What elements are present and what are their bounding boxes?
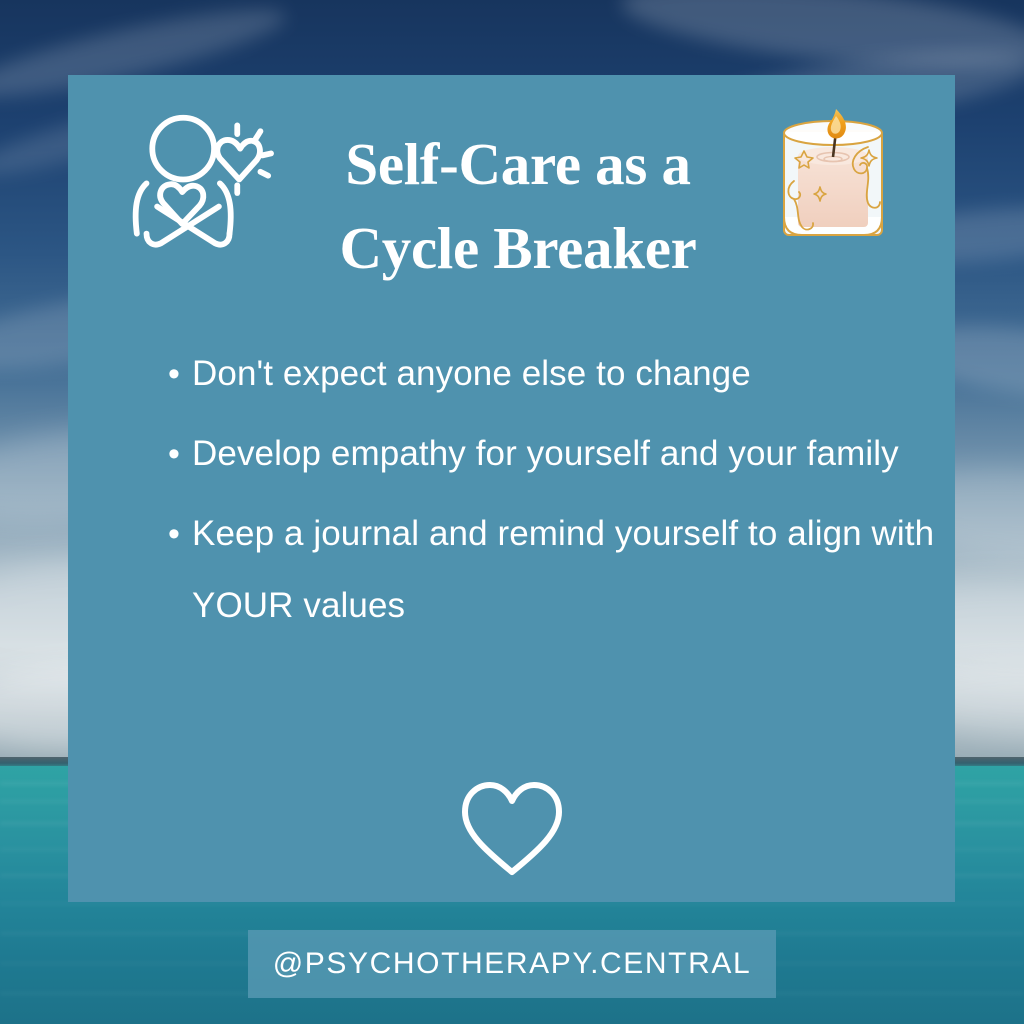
- water-glint: [0, 902, 1024, 905]
- title-line-2: Cycle Breaker: [283, 206, 753, 290]
- content-card: Self-Care as a Cycle Breaker: [68, 75, 955, 902]
- title-line-1: Self-Care as a: [283, 122, 753, 206]
- list-item-text: Develop empathy for yourself and your fa…: [192, 418, 952, 490]
- list-item: • Keep a journal and remind yourself to …: [162, 498, 952, 642]
- bullet-marker-icon: •: [162, 498, 192, 570]
- bullet-marker-icon: •: [162, 418, 192, 490]
- list-item: • Develop empathy for yourself and your …: [162, 418, 952, 490]
- bullet-marker-icon: •: [162, 338, 192, 410]
- handle-text: @PSYCHOTHERAPY.CENTRAL: [273, 947, 752, 981]
- cloud-wisp: [618, 0, 1024, 82]
- bullet-list: • Don't expect anyone else to change • D…: [162, 338, 952, 650]
- self-love-icon: [130, 110, 275, 250]
- handle-bar: @PSYCHOTHERAPY.CENTRAL: [248, 930, 776, 998]
- candle-icon: [768, 107, 898, 247]
- poster: Self-Care as a Cycle Breaker: [0, 0, 1024, 1024]
- list-item-text: Don't expect anyone else to change: [192, 338, 952, 410]
- heart-outline-icon: [457, 778, 567, 878]
- page-title: Self-Care as a Cycle Breaker: [283, 122, 753, 291]
- list-item: • Don't expect anyone else to change: [162, 338, 952, 410]
- list-item-text: Keep a journal and remind yourself to al…: [192, 498, 952, 642]
